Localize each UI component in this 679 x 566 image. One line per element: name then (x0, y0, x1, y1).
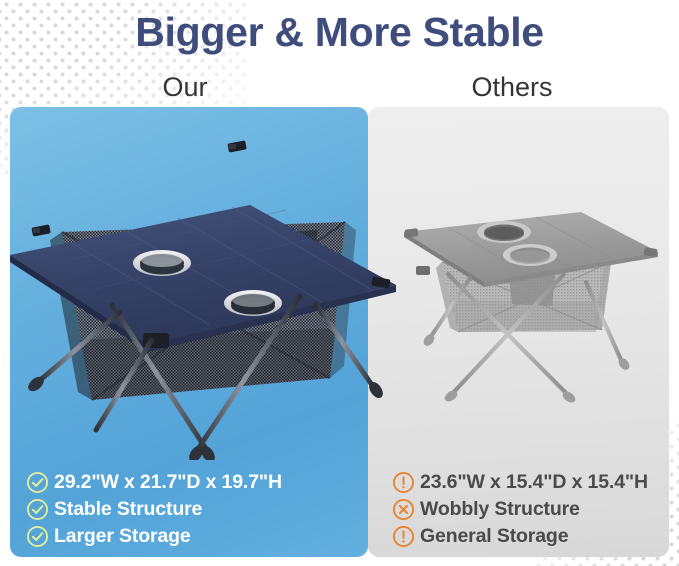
comparison-infographic: Bigger & More Stable Our Others (0, 0, 679, 566)
column-heading-others: Others (412, 71, 612, 103)
feature-label: Larger Storage (54, 524, 191, 549)
exclamation-circle-icon (392, 471, 415, 494)
feature-item: General Storage (392, 524, 648, 549)
feature-list-others: 23.6"W x 15.4"D x 15.4"H Wobbly Structur… (392, 470, 648, 549)
check-circle-icon (26, 471, 49, 494)
feature-label: Stable Structure (54, 497, 202, 522)
exclamation-circle-icon (392, 525, 415, 548)
feature-item: Wobbly Structure (392, 497, 648, 522)
feature-list-our: 29.2"W x 21.7"D x 19.7"H Stable Structur… (26, 470, 282, 549)
feature-item: 29.2"W x 21.7"D x 19.7"H (26, 470, 282, 495)
feature-label: Wobbly Structure (420, 497, 580, 522)
check-circle-icon (26, 525, 49, 548)
feature-label: 29.2"W x 21.7"D x 19.7"H (54, 470, 282, 495)
feature-label: General Storage (420, 524, 568, 549)
feature-item: 23.6"W x 15.4"D x 15.4"H (392, 470, 648, 495)
x-circle-icon (392, 498, 415, 521)
check-circle-icon (26, 498, 49, 521)
page-title: Bigger & More Stable (0, 7, 679, 57)
feature-item: Larger Storage (26, 524, 282, 549)
feature-label: 23.6"W x 15.4"D x 15.4"H (420, 470, 648, 495)
feature-item: Stable Structure (26, 497, 282, 522)
column-heading-our: Our (85, 71, 285, 103)
